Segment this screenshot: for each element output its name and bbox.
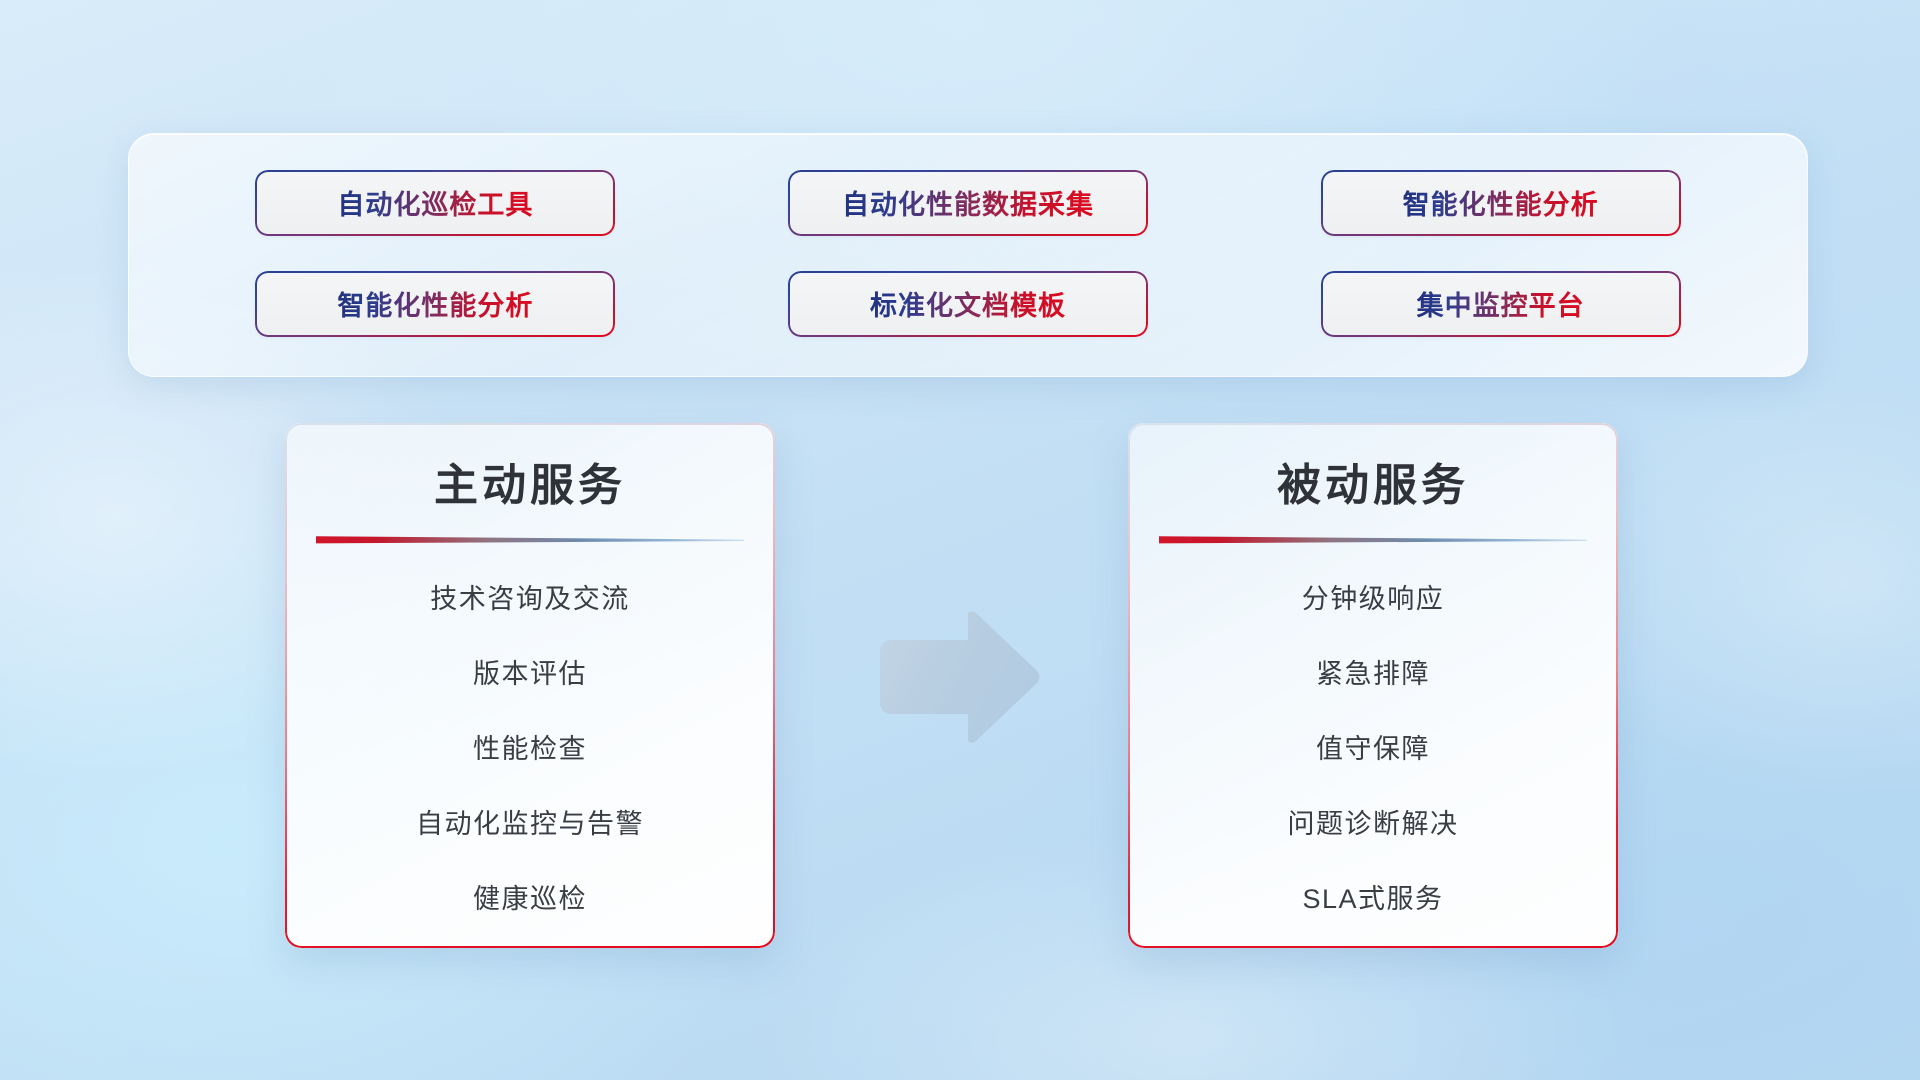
service-item: 自动化监控与告警 (285, 811, 775, 838)
service-card-active: 主动服务 技术咨询及交流 版本评估 性能检查 (285, 423, 775, 948)
service-item: 分钟级响应 (1128, 586, 1618, 613)
capability-pill-5[interactable]: 标准化文档模板 (790, 273, 1146, 335)
infographic-stage: 自动化巡检工具 自动化性能数据采集 智能化性能分析 智能化性能分析 标准化文档模… (0, 0, 1920, 1080)
service-card-passive: 被动服务 分钟级响应 紧急排障 值守保障 (1128, 423, 1618, 948)
service-item: SLA式服务 (1128, 886, 1618, 913)
capability-pill-label: 智能化性能分析 (337, 284, 533, 323)
capability-pill-4[interactable]: 智能化性能分析 (257, 273, 613, 335)
service-item: 紧急排障 (1128, 661, 1618, 688)
card-divider (1159, 535, 1587, 544)
service-card-item-list: 技术咨询及交流 版本评估 性能检查 自动化监控与告警 健康巡检 (285, 586, 775, 913)
service-item: 健康巡检 (285, 886, 775, 913)
capability-pill-grid: 自动化巡检工具 自动化性能数据采集 智能化性能分析 智能化性能分析 标准化文档模… (129, 134, 1807, 376)
capability-pill-label: 自动化性能数据采集 (842, 183, 1094, 222)
service-item: 版本评估 (285, 661, 775, 688)
capability-pill-label: 标准化文档模板 (870, 284, 1066, 323)
capability-pill-3[interactable]: 智能化性能分析 (1323, 172, 1679, 234)
capability-pill-2[interactable]: 自动化性能数据采集 (790, 172, 1146, 234)
service-card-item-list: 分钟级响应 紧急排障 值守保障 问题诊断解决 SLA式服务 (1128, 586, 1618, 913)
card-divider (316, 535, 744, 544)
service-item: 技术咨询及交流 (285, 586, 775, 613)
capability-pill-label: 智能化性能分析 (1403, 183, 1599, 222)
service-item: 值守保障 (1128, 736, 1618, 763)
capability-pill-label: 自动化巡检工具 (337, 183, 533, 222)
right-arrow-icon (872, 608, 1042, 748)
service-card-title: 被动服务 (1128, 449, 1618, 513)
capability-pill-1[interactable]: 自动化巡检工具 (257, 172, 613, 234)
service-card-title: 主动服务 (285, 449, 775, 513)
capability-panel: 自动化巡检工具 自动化性能数据采集 智能化性能分析 智能化性能分析 标准化文档模… (128, 133, 1808, 377)
capability-pill-6[interactable]: 集中监控平台 (1323, 273, 1679, 335)
capability-pill-label: 集中监控平台 (1417, 284, 1585, 323)
service-item: 性能检查 (285, 736, 775, 763)
service-item: 问题诊断解决 (1128, 811, 1618, 838)
